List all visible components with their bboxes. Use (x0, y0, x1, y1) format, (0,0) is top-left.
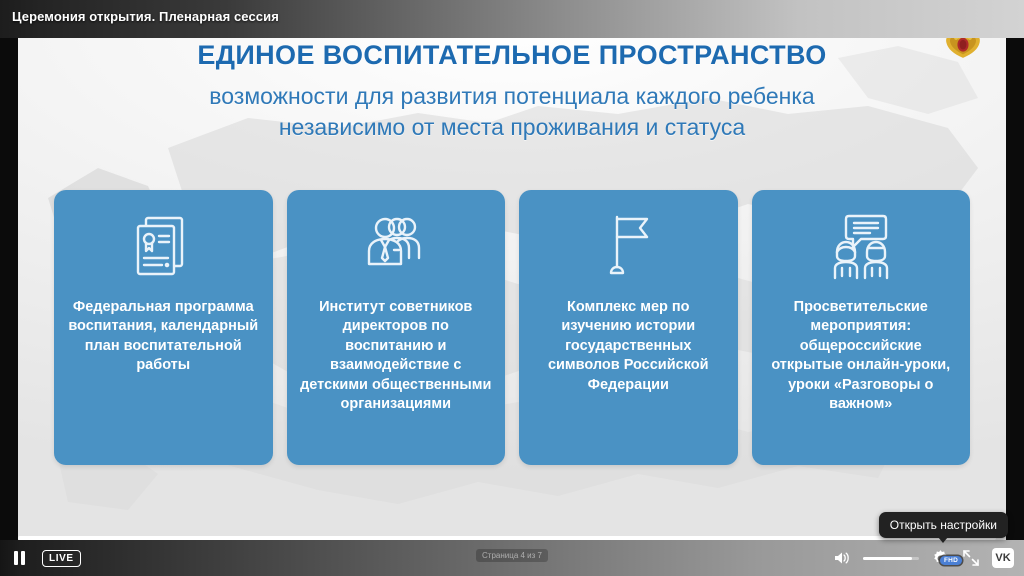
slide-subtitle-line-1: возможности для развития потенциала кажд… (18, 81, 1006, 112)
quality-badge: FHD (940, 556, 962, 565)
fullscreen-button[interactable] (962, 549, 980, 567)
card-label: Институт советников директоров по воспит… (299, 298, 494, 415)
player-topbar: Церемония открытия. Пленарная сессия (0, 0, 1024, 38)
vk-logo-icon[interactable]: VK (992, 548, 1014, 568)
card-label: Просветительские мероприятия: общероссий… (764, 298, 959, 415)
card-educational-events: Просветительские мероприятия: общероссий… (752, 190, 971, 465)
slide-title: ЕДИНОЕ ВОСПИТАТЕЛЬНОЕ ПРОСТРАНСТВО (18, 40, 1006, 71)
settings-button[interactable]: FHD (931, 549, 950, 568)
stream-title: Церемония открытия. Пленарная сессия (12, 9, 279, 24)
pause-icon (21, 551, 25, 565)
volume-button[interactable] (833, 550, 851, 566)
slide-headings: ЕДИНОЕ ВОСПИТАТЕЛЬНОЕ ПРОСТРАНСТВО возмо… (18, 40, 1006, 144)
right-controls: FHD VK (833, 540, 1014, 576)
card-label: Федеральная программа воспитания, календ… (66, 298, 261, 376)
certificate-document-icon (132, 208, 194, 286)
slide-subtitle-line-2: независимо от места проживания и статуса (18, 112, 1006, 143)
card-advisors-institute: Институт советников директоров по воспит… (287, 190, 506, 465)
card-row: Федеральная программа воспитания, календ… (54, 190, 970, 465)
flag-icon (599, 208, 657, 286)
player-controls: LIVE Страница 4 из 7 FHD (0, 540, 1024, 576)
pause-button[interactable] (14, 551, 28, 565)
live-badge[interactable]: LIVE (42, 550, 81, 567)
presentation-slide[interactable]: ЕДИНОЕ ВОСПИТАТЕЛЬНОЕ ПРОСТРАНСТВО возмо… (18, 18, 1006, 542)
card-state-symbols: Комплекс мер по изучению истории государ… (519, 190, 738, 465)
volume-slider[interactable] (863, 557, 919, 560)
two-people-speech-bubble-icon (825, 208, 897, 286)
settings-tooltip: Открыть настройки (879, 512, 1008, 538)
card-label: Комплекс мер по изучению истории государ… (531, 298, 726, 395)
people-group-icon (361, 208, 431, 286)
pause-icon (14, 551, 18, 565)
page-indicator: Страница 4 из 7 (476, 549, 548, 562)
video-player: Церемония открытия. Пленарная сессия (0, 0, 1024, 576)
card-federal-program: Федеральная программа воспитания, календ… (54, 190, 273, 465)
volume-slider-fill (863, 557, 912, 560)
